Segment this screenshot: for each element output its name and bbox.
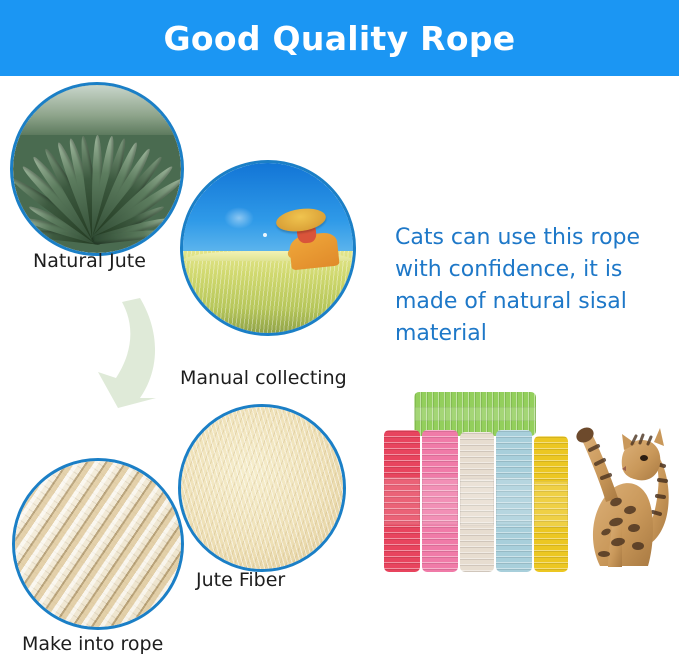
light-spark [263,233,267,237]
bundle-band [496,477,532,525]
sun-flare [224,207,254,229]
caption-make-into-rope: Make into rope [22,633,163,655]
header-banner: Good Quality Rope [0,0,679,76]
coral-rope-bundle [384,430,420,572]
manual-collecting-image [183,163,353,333]
plant-background [13,85,181,135]
make-into-rope-image [15,461,181,627]
caption-natural-jute: Natural Jute [33,250,146,272]
cream-rope-bundle [460,432,494,572]
caption-jute-fiber: Jute Fiber [196,569,285,591]
bengal-cat [560,406,678,576]
pink-rope-bundle [422,430,458,572]
caption-manual-collecting: Manual collecting [180,367,347,389]
product-photo [384,392,679,582]
bundle-band [460,478,494,526]
natural-jute-photo [10,82,184,256]
jute-fiber-image [181,407,343,569]
jute-fiber-photo [178,404,346,572]
make-into-rope-photo [12,458,184,630]
product-description-text: Cats can use this rope with confidence, … [395,222,663,350]
natural-jute-image [13,85,181,253]
bundle-band [384,477,420,525]
blue-rope-bundle [496,430,532,572]
manual-collecting-photo [180,160,356,336]
page-title: Good Quality Rope [164,19,516,58]
bundle-band [414,407,536,422]
curved-down-arrow-icon [78,294,178,412]
bundle-band [422,477,458,525]
